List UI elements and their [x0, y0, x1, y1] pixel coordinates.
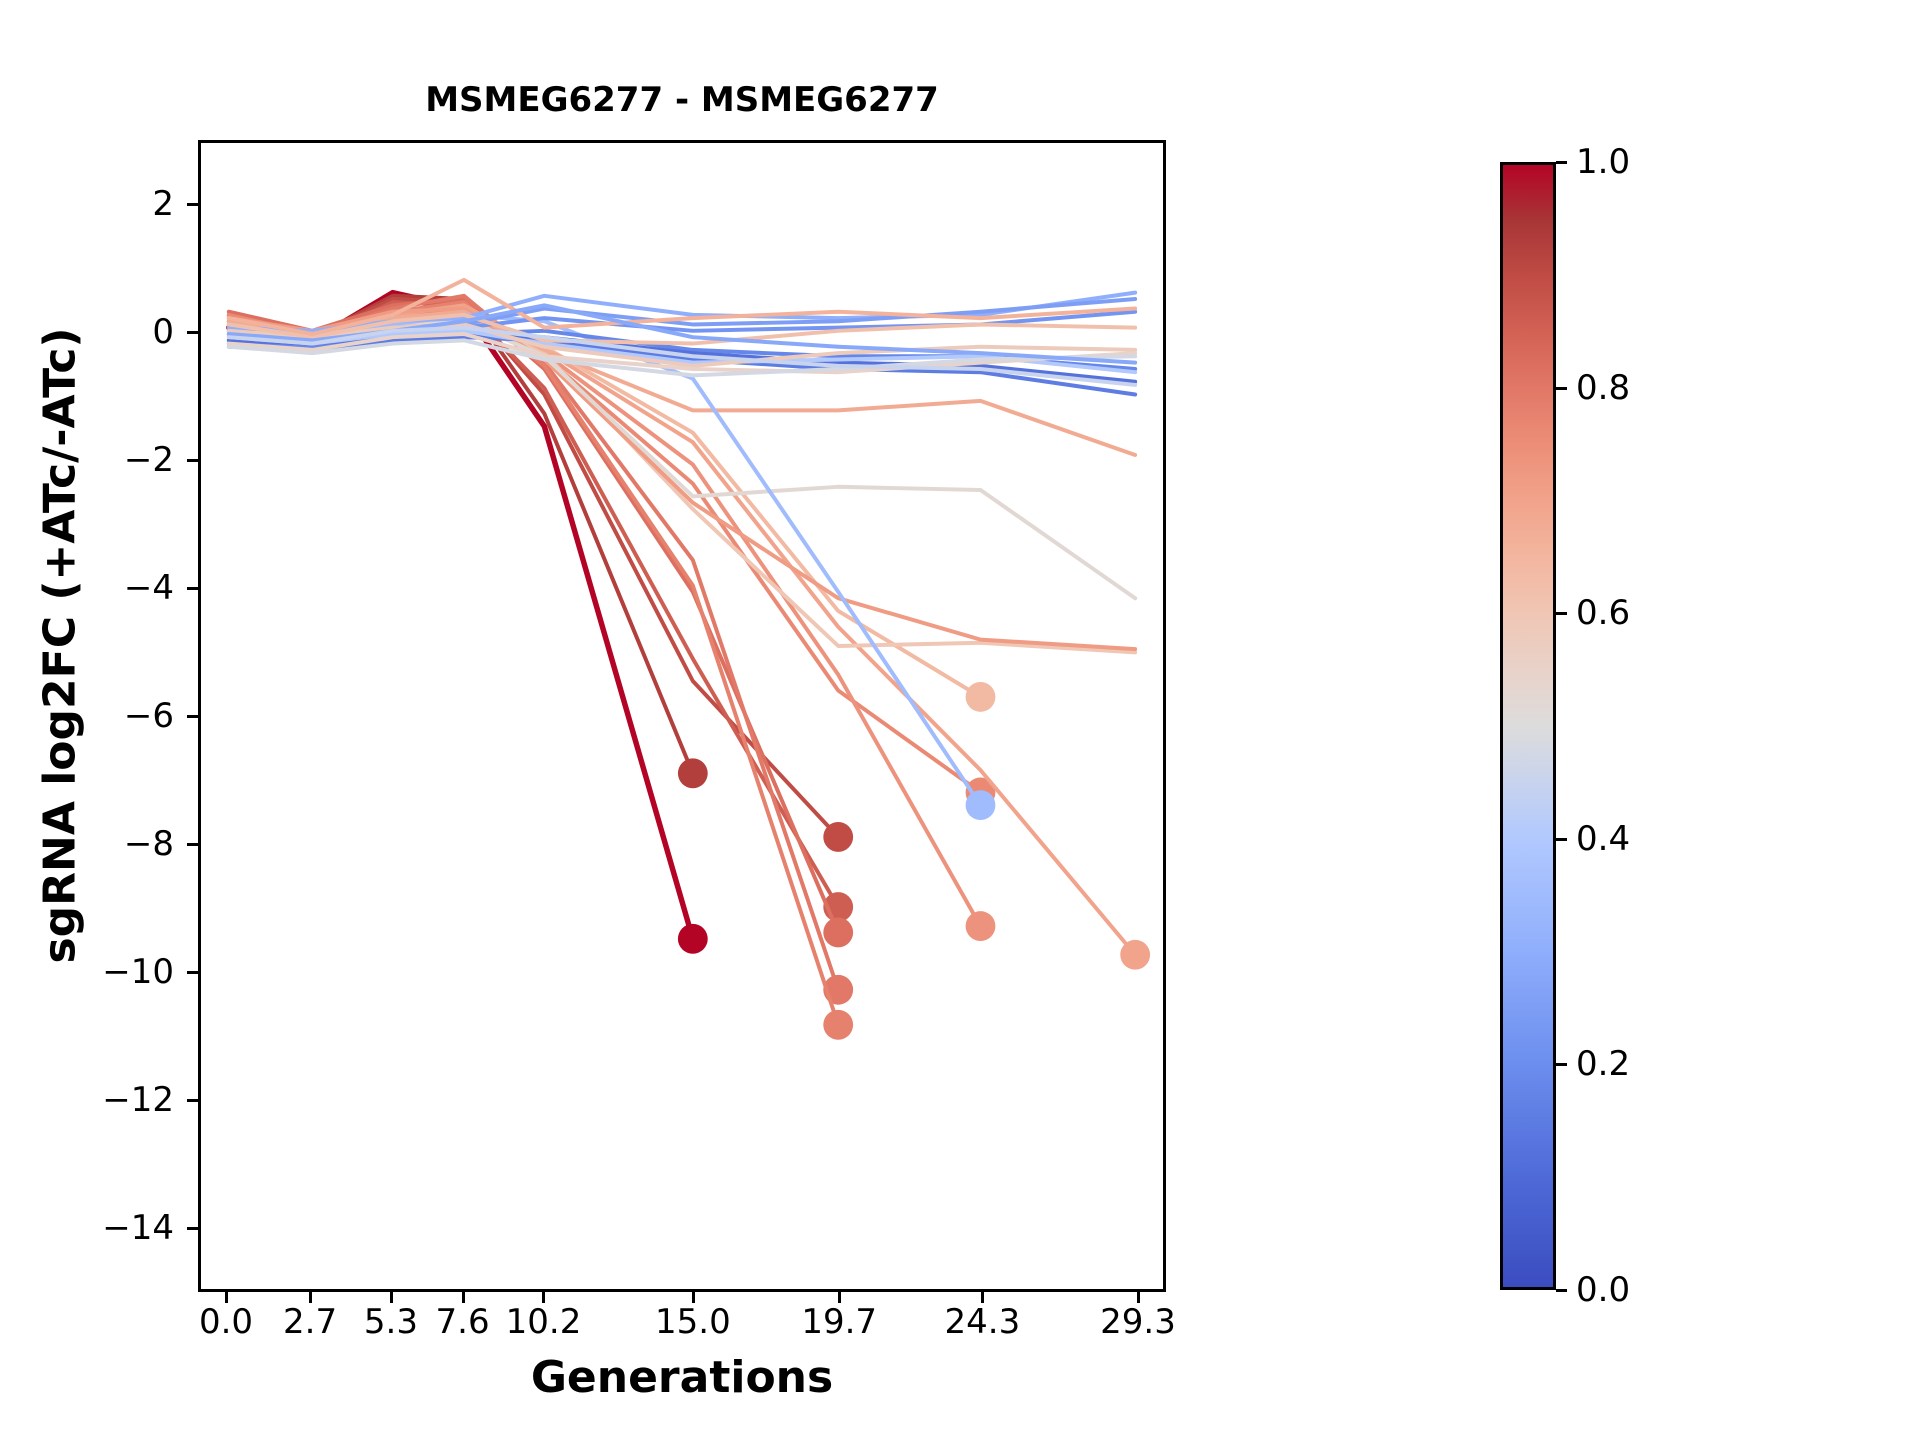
x-tick-label: 7.6 [436, 1302, 490, 1342]
series-line [229, 299, 838, 932]
x-tick-mark [542, 1292, 545, 1303]
x-tick-label: 29.3 [1100, 1302, 1176, 1342]
y-tick-mark [187, 715, 198, 718]
y-tick-label: −12 [102, 1080, 174, 1120]
y-tick-mark [187, 331, 198, 334]
y-axis-label: sgRNA log2FC (+ATc/-ATc) [35, 196, 86, 1096]
plot-area [198, 140, 1166, 1292]
colorbar-tick-label: 0.6 [1576, 593, 1630, 633]
series-endpoint-marker [678, 758, 708, 788]
x-tick-label: 19.7 [801, 1302, 877, 1342]
y-axis: 20−2−4−6−8−10−12−14 [0, 0, 198, 1440]
x-tick-mark [981, 1292, 984, 1303]
series-endpoint-marker [678, 924, 708, 954]
x-tick-mark [225, 1292, 228, 1303]
y-tick-label: −4 [124, 568, 174, 608]
series-lines [201, 143, 1163, 1289]
y-tick-mark [187, 1227, 198, 1230]
colorbar-tick-label: 0.2 [1576, 1044, 1630, 1084]
series-line [229, 305, 1135, 954]
y-tick-label: −8 [124, 824, 174, 864]
x-tick-label: 0.0 [199, 1302, 253, 1342]
x-tick-label: 10.2 [506, 1302, 582, 1342]
x-tick-label: 24.3 [945, 1302, 1021, 1342]
y-tick-label: −10 [102, 952, 174, 992]
colorbar-tick-label: 0.4 [1576, 819, 1630, 859]
series-endpoint-marker [966, 790, 996, 820]
y-tick-label: −2 [124, 440, 174, 480]
x-tick-label: 5.3 [364, 1302, 418, 1342]
series-endpoint-marker [1120, 940, 1150, 970]
x-tick-mark [692, 1292, 695, 1303]
series-endpoint-marker [823, 918, 853, 948]
colorbar-gradient [1503, 165, 1553, 1287]
y-tick-mark [187, 971, 198, 974]
x-tick-mark [390, 1292, 393, 1303]
colorbar-tick-mark [1556, 161, 1567, 164]
series-line [229, 302, 838, 907]
y-tick-mark [187, 843, 198, 846]
x-tick-label: 2.7 [283, 1302, 337, 1342]
series-endpoint-marker [823, 822, 853, 852]
series-endpoint-marker [966, 911, 996, 941]
series-line [229, 293, 693, 939]
x-tick-mark [1137, 1292, 1140, 1303]
colorbar-tick-mark [1556, 838, 1567, 841]
colorbar-tick-label: 1.0 [1576, 142, 1630, 182]
colorbar-tick-mark [1556, 612, 1567, 615]
colorbar [1500, 162, 1556, 1290]
colorbar-tick-mark [1556, 387, 1567, 390]
y-tick-mark [187, 1099, 198, 1102]
y-tick-label: 2 [152, 184, 174, 224]
y-tick-label: −14 [102, 1208, 174, 1248]
colorbar-tick-mark [1556, 1289, 1567, 1292]
colorbar-tick-label: 0.8 [1576, 368, 1630, 408]
page-title: MSMEG6277 - MSMEG6277 [198, 80, 1166, 120]
y-tick-mark [187, 587, 198, 590]
x-axis-label: Generations [198, 1352, 1166, 1403]
series-endpoint-marker [823, 1010, 853, 1040]
chart-figure: MSMEG6277 - MSMEG6277 20−2−4−6−8−10−12−1… [0, 0, 1920, 1440]
y-tick-label: 0 [152, 312, 174, 352]
colorbar-tick-mark [1556, 1063, 1567, 1066]
colorbar-tick-label: 0.0 [1576, 1270, 1630, 1310]
series-endpoint-marker [966, 682, 996, 712]
x-tick-mark [462, 1292, 465, 1303]
x-tick-mark [309, 1292, 312, 1303]
y-tick-mark [187, 203, 198, 206]
y-tick-label: −6 [124, 696, 174, 736]
series-line [229, 312, 981, 926]
y-tick-mark [187, 459, 198, 462]
x-tick-mark [838, 1292, 841, 1303]
x-tick-label: 15.0 [655, 1302, 731, 1342]
